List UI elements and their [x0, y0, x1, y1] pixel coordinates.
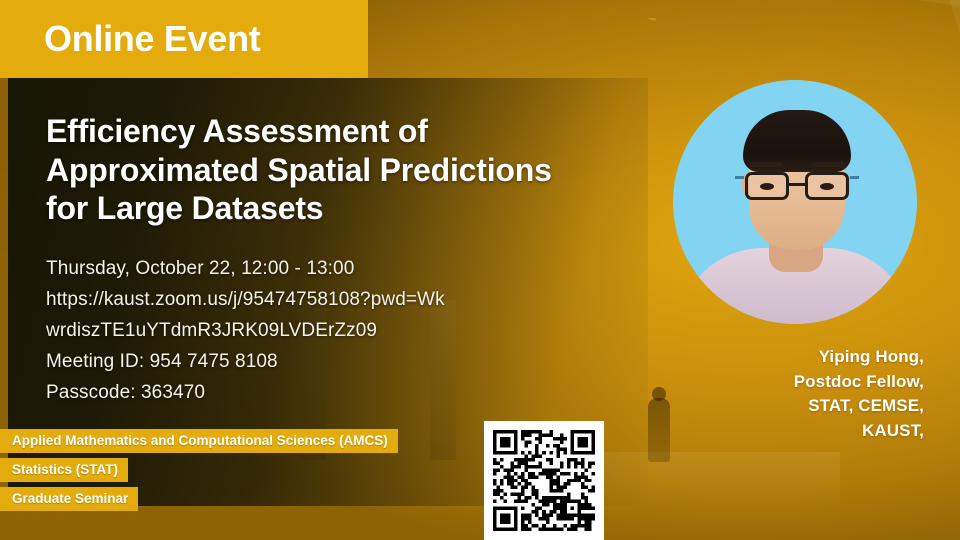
speaker-info: Yiping Hong, Postdoc Fellow, STAT, CEMSE…	[664, 345, 924, 444]
event-poster: Online Event Efficiency Assessment of Ap…	[0, 0, 960, 540]
event-details: Thursday, October 22, 12:00 - 13:00 http…	[46, 254, 626, 409]
portrait-glasses-temple-left	[735, 176, 744, 179]
qr-code-image	[493, 430, 595, 531]
talk-title: Efficiency Assessment of Approximated Sp…	[46, 112, 626, 228]
zoom-link-line-1[interactable]: https://kaust.zoom.us/j/95474758108?pwd=…	[46, 285, 626, 316]
talk-title-line: for Large Datasets	[46, 189, 626, 228]
event-datetime: Thursday, October 22, 12:00 - 13:00	[46, 254, 626, 285]
tag-list: Applied Mathematics and Computational Sc…	[0, 429, 398, 516]
portrait-glasses-bridge	[789, 183, 805, 186]
tag-row: Graduate Seminar	[0, 487, 398, 516]
online-event-banner: Online Event	[0, 0, 368, 78]
tag-row: Applied Mathematics and Computational Sc…	[0, 429, 398, 458]
portrait-brow-left	[749, 162, 783, 167]
meeting-id: Meeting ID: 954 7475 8108	[46, 347, 626, 378]
portrait-brow-right	[811, 162, 845, 167]
content-block: Efficiency Assessment of Approximated Sp…	[46, 112, 626, 409]
portrait-eye-left	[760, 183, 774, 190]
speaker-portrait	[673, 80, 917, 324]
qr-code[interactable]	[484, 421, 604, 540]
speaker-institution: KAUST,	[664, 419, 924, 444]
tag-stat[interactable]: Statistics (STAT)	[0, 458, 128, 482]
tag-row: Statistics (STAT)	[0, 458, 398, 487]
banner-label: Online Event	[0, 21, 260, 57]
talk-title-line: Approximated Spatial Predictions	[46, 151, 626, 190]
portrait-glasses-temple-right	[850, 176, 859, 179]
glasses-icon	[743, 172, 851, 202]
speaker-role: Postdoc Fellow,	[664, 370, 924, 395]
tag-amcs[interactable]: Applied Mathematics and Computational Sc…	[0, 429, 398, 453]
speaker-name: Yiping Hong,	[664, 345, 924, 370]
zoom-link-line-2[interactable]: wrdiszTE1uYTdmR3JRK09LVDErZz09	[46, 316, 626, 347]
talk-title-line: Efficiency Assessment of	[46, 112, 626, 151]
passcode: Passcode: 363470	[46, 378, 626, 409]
speaker-affiliation: STAT, CEMSE,	[664, 394, 924, 419]
tag-graduate-seminar[interactable]: Graduate Seminar	[0, 487, 138, 511]
portrait-eye-right	[820, 183, 834, 190]
